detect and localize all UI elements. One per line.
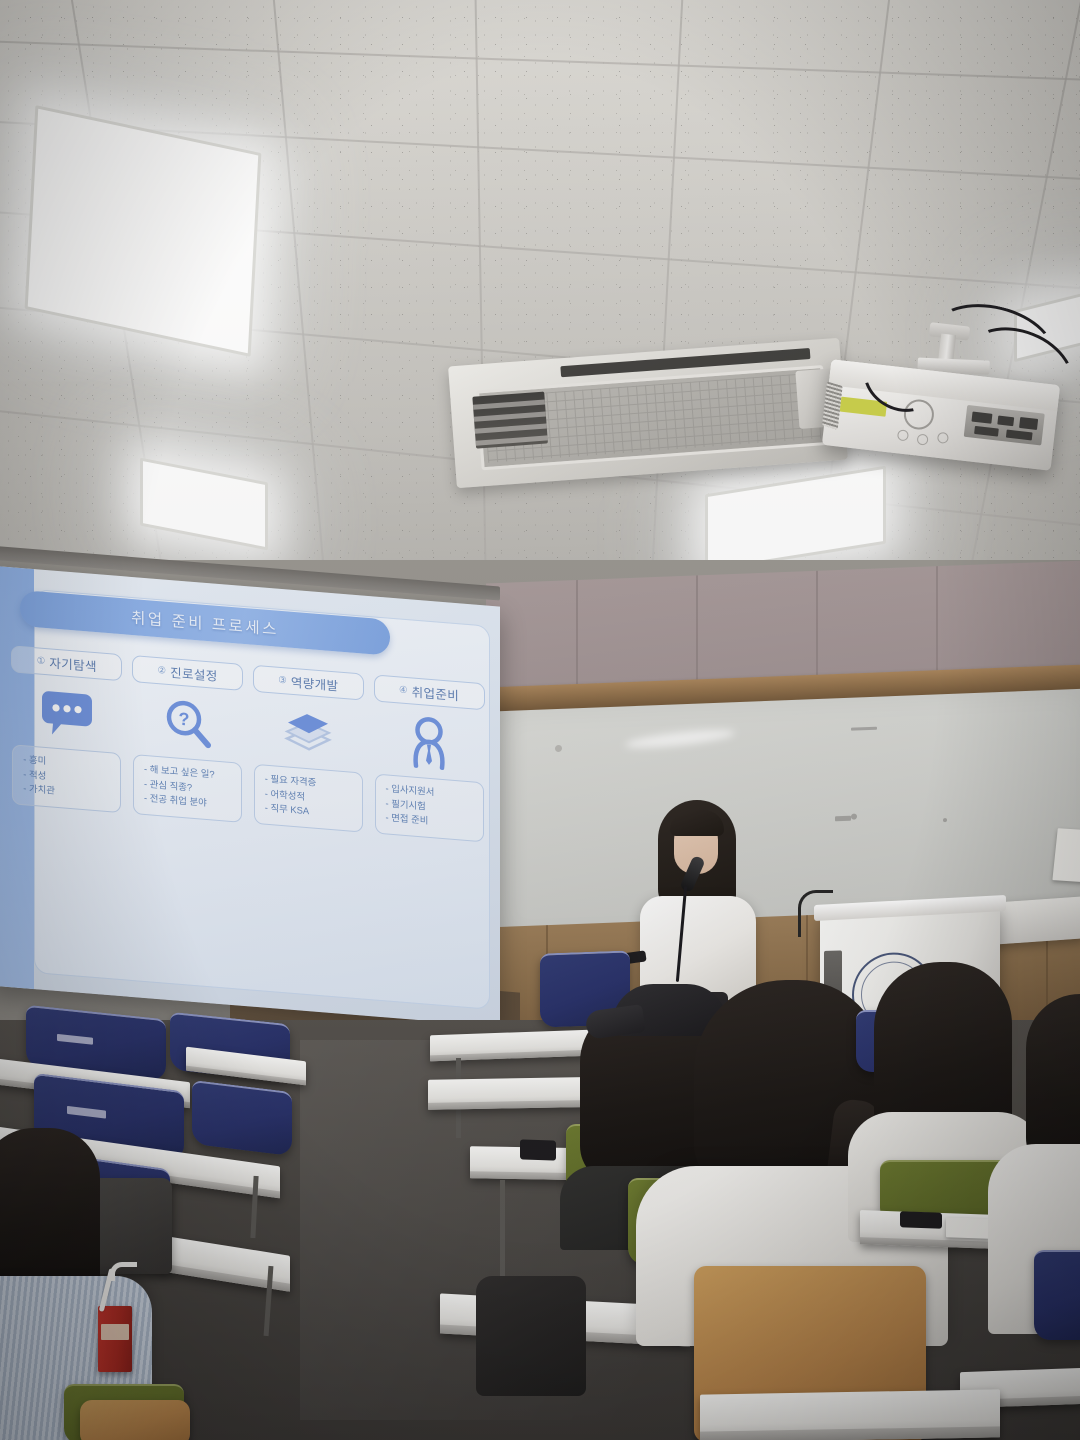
juice-carton bbox=[98, 1306, 132, 1372]
straw-bend bbox=[110, 1262, 137, 1281]
bullet-list-1: - 흥미 - 적성 - 가치관 bbox=[12, 744, 121, 813]
bullet-list-4: - 입사지원서 - 필기시험 - 면접 준비 bbox=[375, 774, 484, 843]
step-label-1: 자기탐색 bbox=[49, 652, 97, 675]
bullet-list-3: - 필요 자격증 - 어학성적 - 직무 KSA bbox=[254, 764, 363, 833]
step-label-4: 취업준비 bbox=[412, 681, 460, 704]
backpack bbox=[476, 1276, 586, 1396]
step-number-2: ② bbox=[158, 665, 167, 677]
student-far-right bbox=[992, 994, 1080, 1294]
slide-column-3: ③ 역량개발 - 필요 자격증 - 어학성적 - 직무 KSA bbox=[252, 665, 366, 833]
speech-bubble-icon bbox=[41, 681, 93, 747]
svg-text:?: ? bbox=[178, 709, 189, 730]
ceiling bbox=[0, 0, 1080, 600]
step-number-3: ③ bbox=[278, 675, 287, 687]
bullet-list-2: - 해 보고 싶은 일? - 관심 직종? - 전공 취업 분야 bbox=[133, 754, 242, 823]
paper-on-desk bbox=[946, 1217, 990, 1239]
chair-navy bbox=[192, 1080, 292, 1156]
step-number-1: ① bbox=[37, 655, 46, 667]
phone-on-desk bbox=[900, 1211, 942, 1228]
person-necktie-icon bbox=[406, 710, 452, 776]
magnifier-question-icon: ? bbox=[163, 690, 213, 756]
presenter-fringe bbox=[670, 810, 724, 836]
slide-column-4: ④ 취업준비 - 입사지원서 - 필기시험 - 면접 준비 bbox=[372, 674, 486, 842]
chair-wood bbox=[80, 1400, 190, 1440]
classroom-photo: 취업 준비 프로세스 ① 자기탐색 bbox=[0, 0, 1080, 1440]
ac-vent-louvers bbox=[472, 392, 548, 449]
step-label-2: 진로설정 bbox=[170, 662, 218, 685]
projection-screen: 취업 준비 프로세스 ① 자기탐색 bbox=[0, 565, 500, 1026]
slide-column-1: ① 자기탐색 - 흥미 - 적성 - 가치관 bbox=[10, 645, 124, 813]
desk bbox=[700, 1389, 1000, 1440]
step-label-3: 역량개발 bbox=[291, 672, 339, 695]
chair-navy bbox=[1034, 1250, 1080, 1340]
slide-title: 취업 준비 프로세스 bbox=[131, 606, 279, 640]
stacked-books-icon bbox=[281, 700, 335, 766]
step-number-4: ④ bbox=[399, 684, 408, 696]
phone-on-desk bbox=[520, 1139, 556, 1160]
slide-column-2: ② 진로설정 ? - 해 보고 싶은 일? - 관심 직종? - 전공 취업 bbox=[131, 655, 245, 823]
